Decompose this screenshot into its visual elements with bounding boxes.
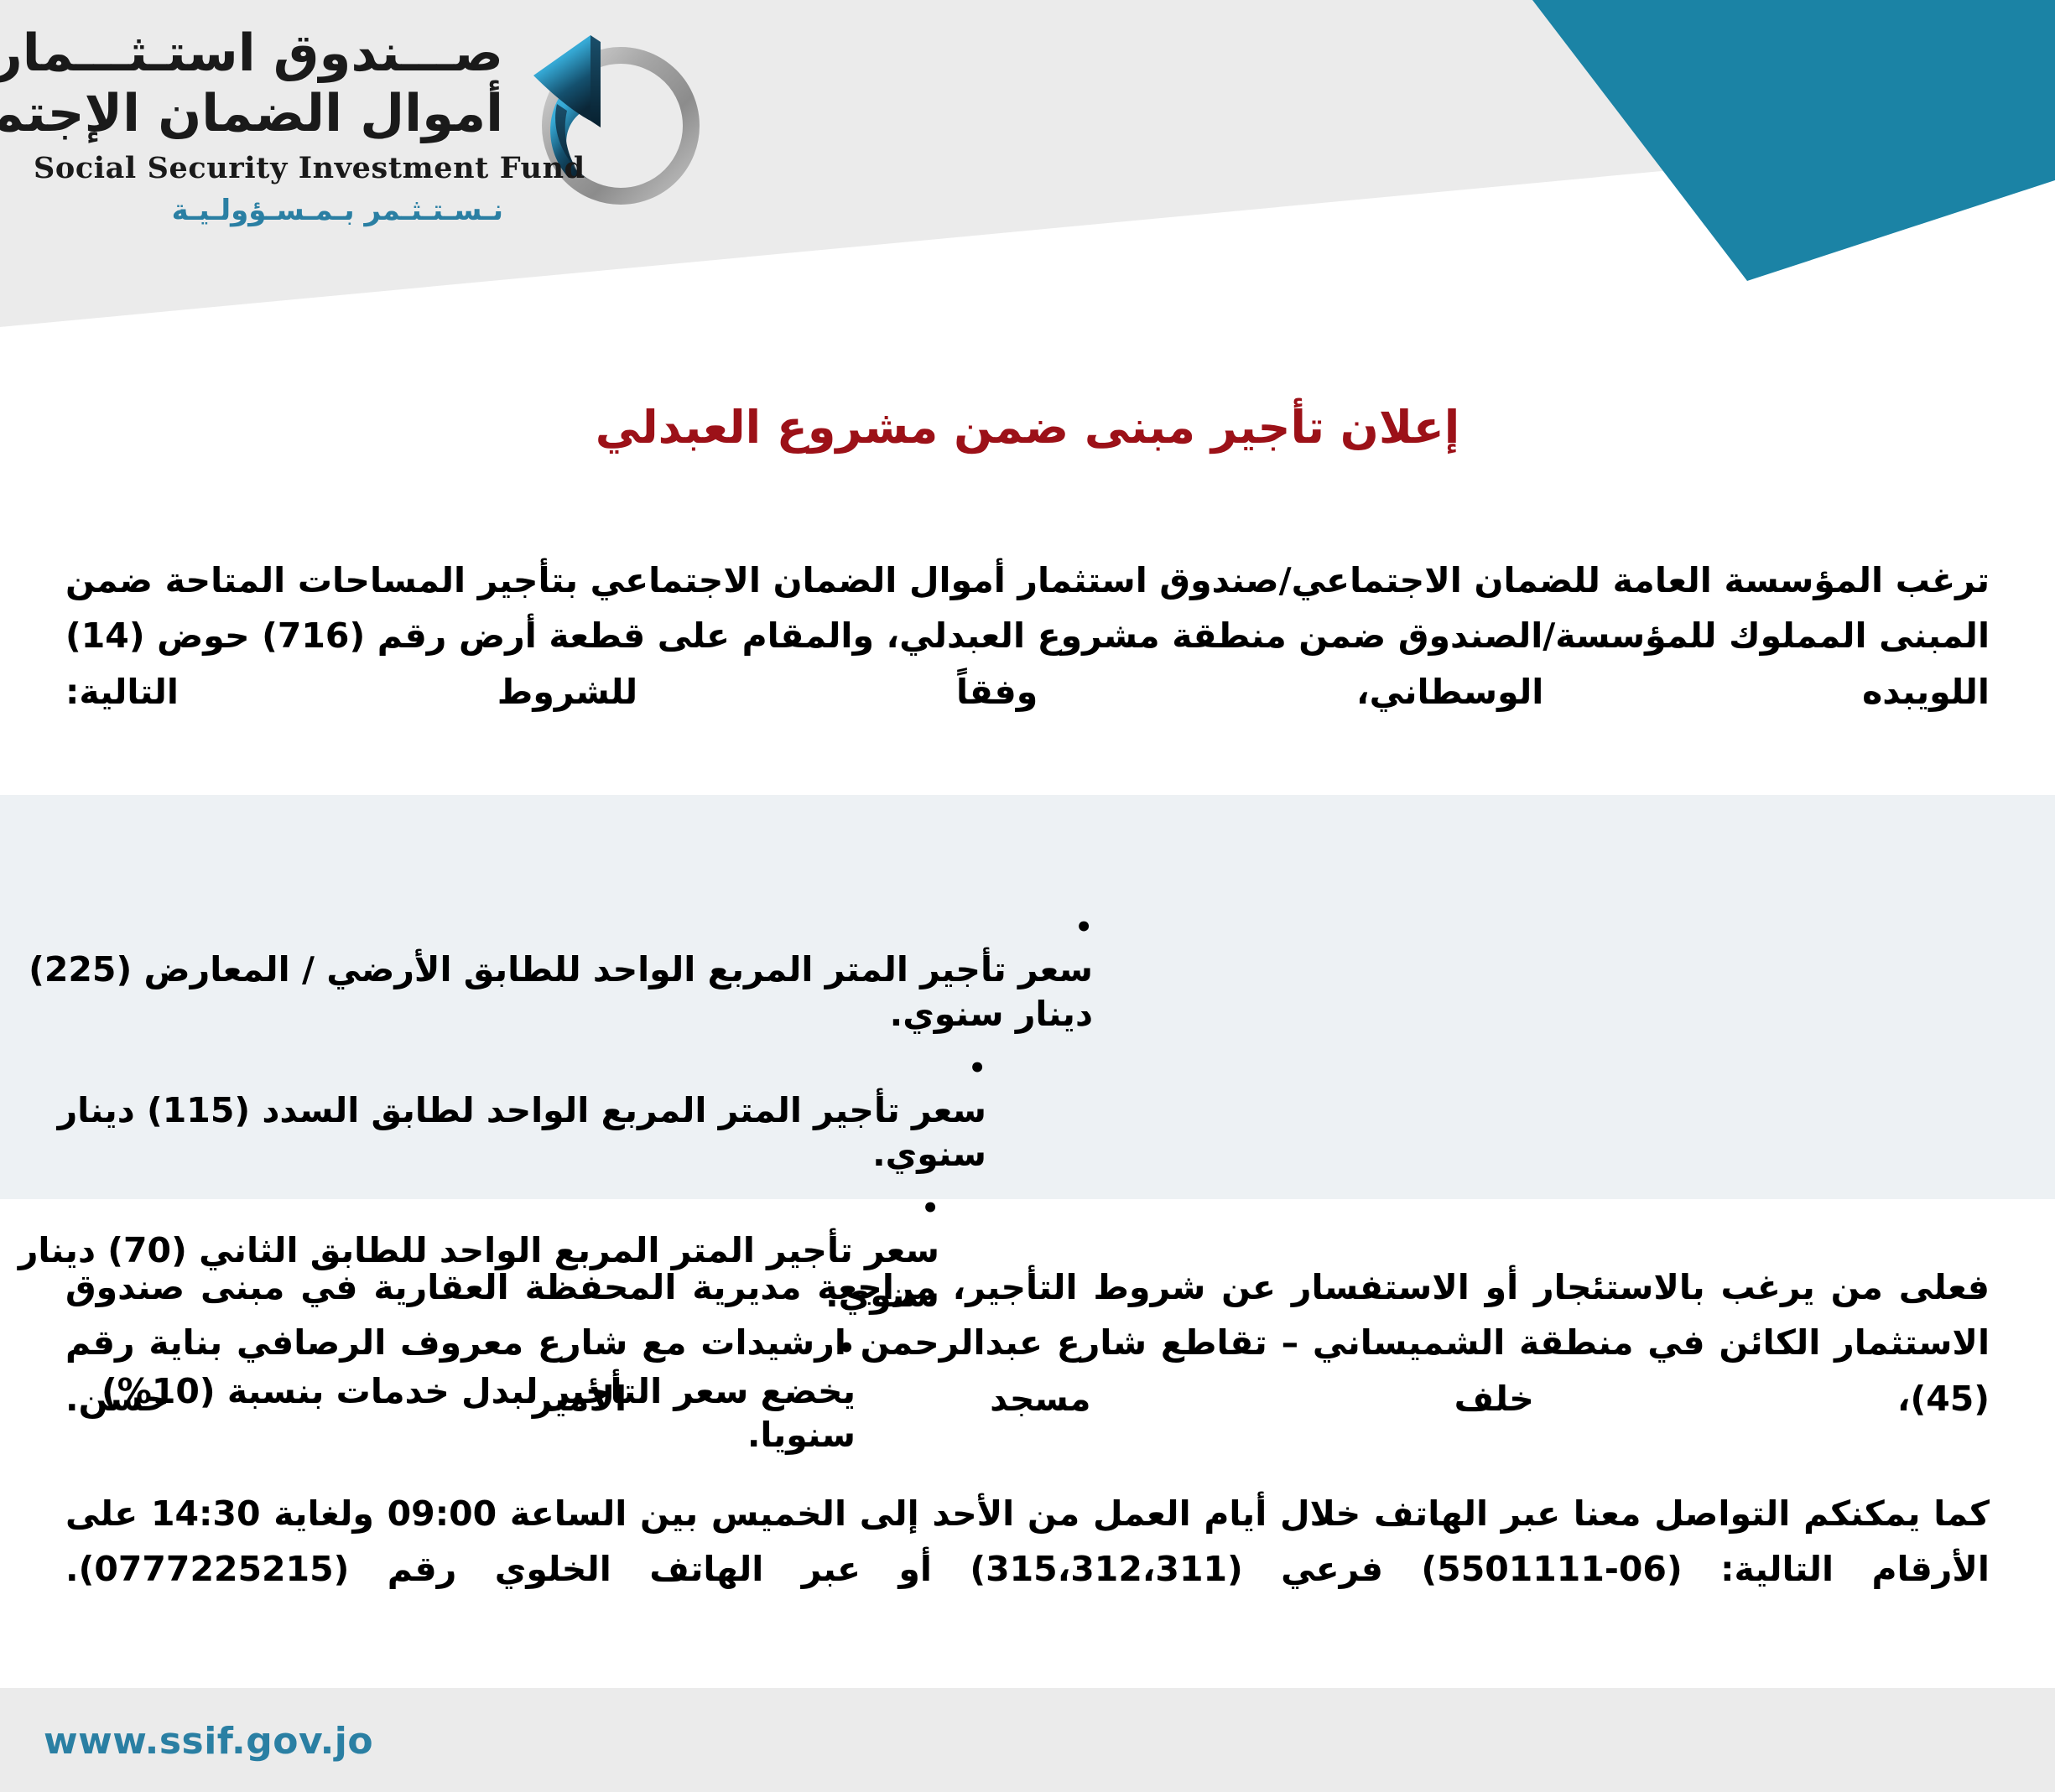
logo-english-name: Social Security Investment Fund (34, 151, 503, 185)
logo-arabic-line-1: صـــندوق استـثـــمار (34, 23, 503, 84)
page-footer: www.ssif.gov.jo (0, 1688, 2055, 1792)
contact-paragraph: فعلى من يرغب بالاستئجار أو الاستفسار عن … (65, 1260, 1990, 1426)
website-link[interactable]: www.ssif.gov.jo (44, 1720, 373, 1763)
intro-paragraph: ترغب المؤسسة العامة للضمان الاجتماعي/صند… (0, 553, 2055, 719)
document-body: إعلان تأجير مبنى ضمن مشروع العبدلي ترغب … (0, 352, 2055, 719)
term-text: سعر تأجير المتر المربع الواحد للطابق الأ… (0, 948, 1093, 1036)
terms-list: سعر تأجير المتر المربع الواحد للطابق الأ… (0, 795, 2055, 1199)
terms-list-spacer (0, 795, 2055, 904)
list-item: سعر تأجير المتر المربع الواحد للطابق الأ… (0, 904, 1093, 1036)
logo-tagline: نـسـتـثـمر بـمـسـؤولـيـة (34, 194, 503, 227)
page-header: صـــندوق استـثـــمار أموال الضمان الإجتم… (0, 0, 2055, 352)
term-text: سعر تأجير المتر المربع الواحد لطابق السد… (0, 1088, 986, 1176)
phone-paragraph: كما يمكنكم التواصل معنا عبر الهاتف خلال … (65, 1486, 1990, 1597)
logo-text-block: صـــندوق استـثـــمار أموال الضمان الإجتم… (34, 23, 503, 227)
organization-logo: صـــندوق استـثـــمار أموال الضمان الإجتم… (34, 15, 730, 242)
list-item: سعر تأجير المتر المربع الواحد لطابق السد… (0, 1044, 986, 1176)
logo-arabic-line-2: أموال الضمان الإجتماعي (34, 84, 503, 144)
announcement-page: صـــندوق استـثـــمار أموال الضمان الإجتم… (0, 0, 2055, 1792)
page-title: إعلان تأجير مبنى ضمن مشروع العبدلي (0, 401, 2055, 454)
